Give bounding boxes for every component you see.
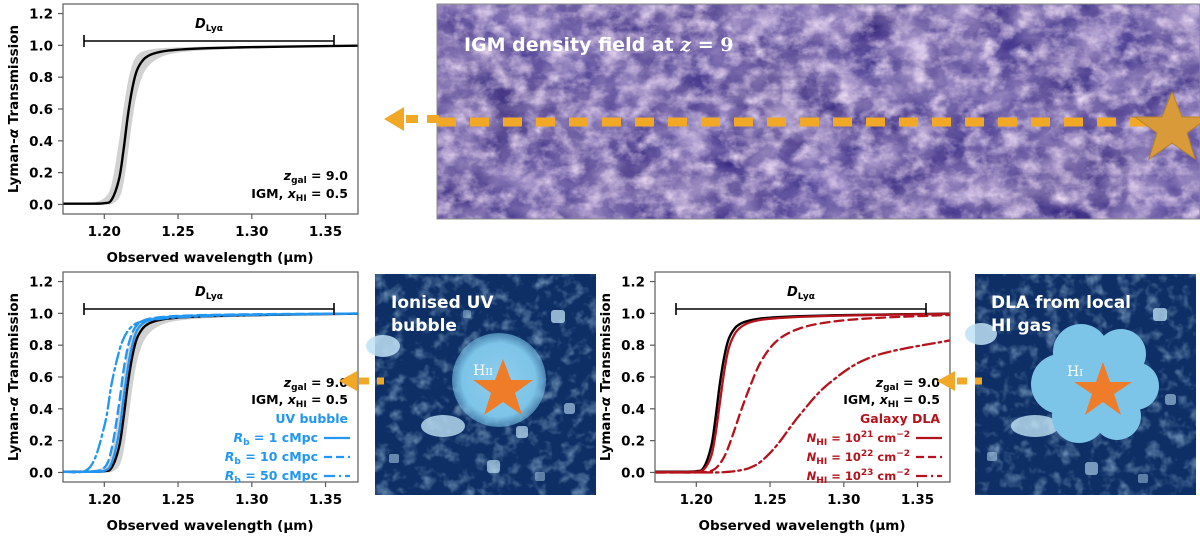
legend-label-rb-1: Rb = 1 cMpc	[233, 430, 318, 448]
annot-zgal: zgal = 9.0	[875, 375, 941, 393]
x-axis-label: Observed wavelength (μm)	[106, 250, 313, 266]
x-tick-label: 1.35	[309, 224, 342, 240]
y-tick-label: 0.4	[29, 134, 53, 150]
legend-label-nhi-22: NHI = 1022 cm−2	[807, 449, 910, 467]
igm-transmission-chart: 1.201.251.301.350.00.20.40.60.81.01.2 DL…	[0, 0, 380, 268]
x-tick-label: 1.25	[161, 224, 194, 240]
bubble-title-line2: bubble	[391, 316, 457, 336]
y-tick-label: 0.8	[621, 338, 645, 354]
y-tick-label: 0.0	[621, 465, 645, 481]
bubble-title-line1: Ionised UV	[391, 293, 494, 313]
y-tick-label: 1.2	[29, 275, 53, 291]
legend-label-nhi-23: NHI = 1023 cm−2	[807, 468, 910, 486]
y-tick-label: 1.2	[621, 275, 645, 291]
legend-label-rb-50: Rb = 50 cMpc	[225, 468, 318, 486]
annot-xhi: IGM, xHI = 0.5	[843, 392, 940, 410]
panel-igm-transmission: 1.201.251.301.350.00.20.40.60.81.01.2 DL…	[0, 0, 380, 268]
uv-bubble-chart: 1.201.251.301.350.00.20.40.60.81.01.2 DL…	[0, 268, 380, 536]
dla-illustration: HI DLA from local HI gas	[975, 274, 1196, 495]
x-tick-label: 1.35	[901, 492, 934, 508]
y-tick-label: 0.4	[29, 402, 53, 418]
x-axis-label: Observed wavelength (μm)	[698, 518, 905, 534]
y-tick-label: 0.6	[29, 370, 53, 386]
annot-xhi: IGM, xHI = 0.5	[251, 186, 348, 204]
x-tick-label: 1.20	[680, 492, 713, 508]
uv-bubble-illustration: HII Ionised UV bubble	[375, 274, 596, 495]
y-tick-label: 0.4	[621, 402, 645, 418]
x-tick-label: 1.35	[309, 492, 342, 508]
y-tick-label: 1.2	[29, 7, 53, 23]
y-tick-label: 0.6	[29, 102, 53, 118]
arrow-head-icon	[384, 107, 404, 131]
arrow-density-to-igm	[382, 103, 440, 135]
y-tick-label: 0.0	[29, 197, 53, 213]
x-tick-label: 1.25	[161, 492, 194, 508]
dlya-label: DLyα	[195, 17, 223, 34]
dlya-bracket: DLyα	[84, 17, 334, 47]
panel-dla-transmission: 1.201.251.301.350.00.20.40.60.81.01.2 DL…	[592, 268, 972, 536]
panel-uv-bubble-transmission: 1.201.251.301.350.00.20.40.60.81.01.2 DL…	[0, 268, 380, 536]
annot-zgal: zgal = 9.0	[283, 168, 349, 186]
y-axis-label: Lyman-α Transmission	[6, 293, 22, 461]
dla-title-line1: DLA from local	[991, 293, 1131, 313]
y-axis-label: Lyman-α Transmission	[6, 25, 22, 193]
y-tick-label: 1.0	[29, 306, 53, 322]
arrow-head-icon	[937, 371, 955, 391]
panel-igm-density-field: IGM density field at z = 9	[437, 4, 1200, 219]
legend-title-galaxy-dla: Galaxy DLA	[860, 411, 940, 426]
x-tick-label: 1.30	[235, 492, 268, 508]
dla-chart: 1.201.251.301.350.00.20.40.60.81.01.2 DL…	[592, 268, 972, 536]
arrow-dla-to-chart	[936, 367, 982, 395]
y-tick-label: 1.0	[29, 38, 53, 54]
y-tick-label: 0.0	[29, 465, 53, 481]
x-tick-label: 1.30	[235, 224, 268, 240]
legend-label-rb-10: Rb = 10 cMpc	[225, 449, 318, 467]
y-tick-label: 0.2	[621, 434, 645, 450]
annot-xhi: IGM, xHI = 0.5	[251, 392, 348, 410]
panel-uv-bubble-image: HII Ionised UV bubble	[375, 274, 596, 495]
x-axis-label: Observed wavelength (μm)	[106, 518, 313, 534]
legend-title-uv-bubble: UV bubble	[275, 411, 348, 426]
panel-dla-image: HI DLA from local HI gas	[975, 274, 1196, 495]
arrow-head-icon	[339, 371, 357, 391]
dlya-bracket: DLyα	[84, 285, 334, 315]
y-tick-label: 0.8	[29, 70, 53, 86]
density-field-title: IGM density field at z = 9	[464, 34, 734, 56]
y-tick-label: 0.2	[29, 434, 53, 450]
y-tick-label: 0.2	[29, 166, 53, 182]
x-tick-label: 1.20	[88, 492, 121, 508]
dla-title-line2: HI gas	[991, 316, 1051, 336]
x-tick-label: 1.20	[88, 224, 121, 240]
dlya-bracket: DLyα	[676, 285, 926, 315]
y-tick-label: 0.8	[29, 338, 53, 354]
y-tick-label: 0.6	[621, 370, 645, 386]
x-tick-label: 1.30	[827, 492, 860, 508]
arrow-bubble-to-chart	[338, 367, 384, 395]
x-tick-label: 1.25	[753, 492, 786, 508]
y-axis-label: Lyman-α Transmission	[598, 293, 614, 461]
legend-label-nhi-21: NHI = 1021 cm−2	[807, 430, 910, 448]
dlya-label: DLyα	[787, 285, 815, 302]
density-field-image: IGM density field at z = 9	[437, 4, 1200, 219]
dlya-label: DLyα	[195, 285, 223, 302]
y-tick-label: 1.0	[621, 306, 645, 322]
